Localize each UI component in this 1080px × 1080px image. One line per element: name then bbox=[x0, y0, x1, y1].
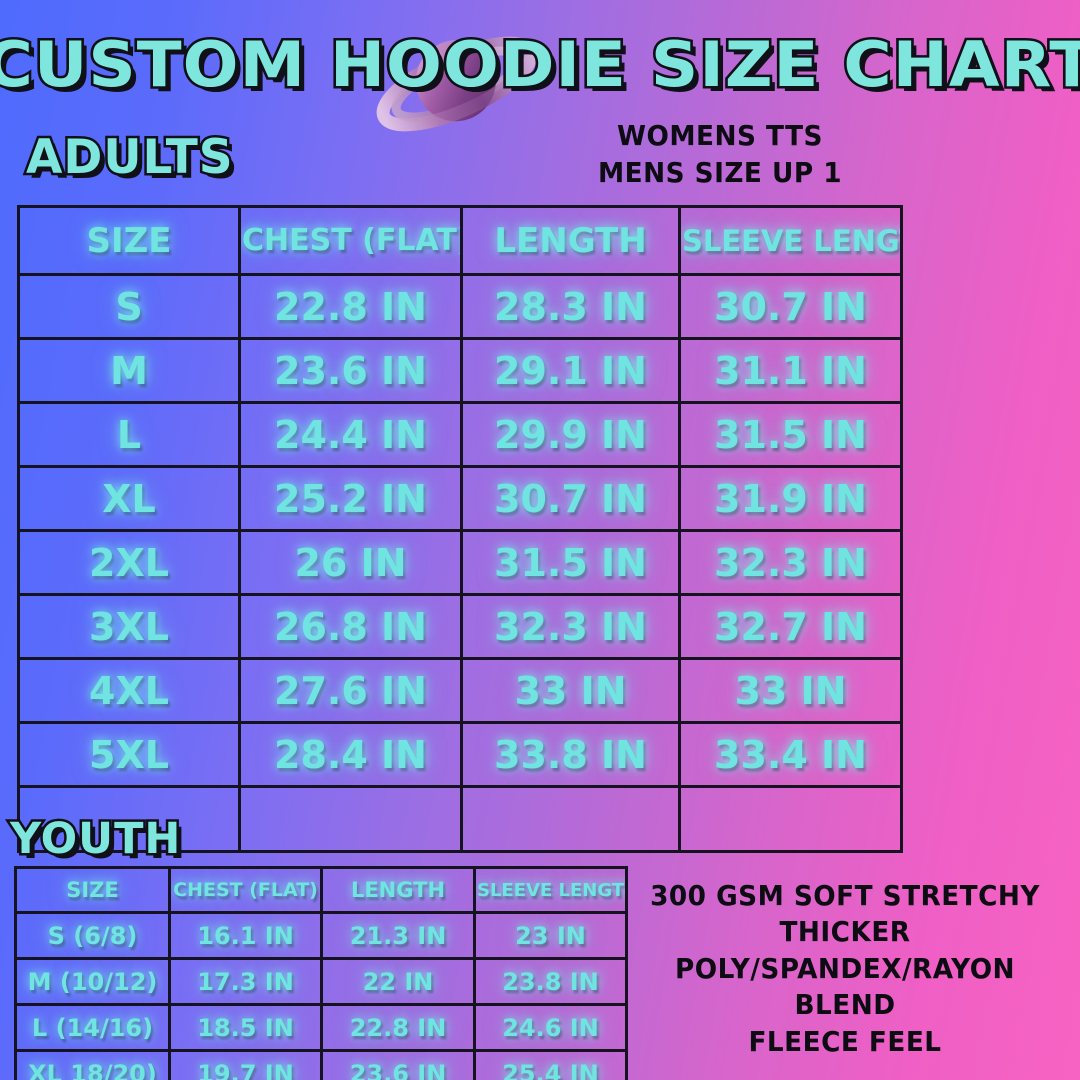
youth-cell-sleeve: 25.4 IN bbox=[475, 1051, 627, 1080]
adult-cell-size: 5XL bbox=[19, 723, 240, 787]
table-row: L (14/16) 18.5 IN 22.8 IN 24.6 IN bbox=[16, 1005, 627, 1051]
adult-cell-sleeve: 33 IN bbox=[680, 659, 902, 723]
adult-cell-length: 28.3 IN bbox=[462, 275, 680, 339]
adult-cell-sleeve: 31.9 IN bbox=[680, 467, 902, 531]
adult-cell-length: 31.5 IN bbox=[462, 531, 680, 595]
youth-header-chest: CHEST (FLAT) bbox=[170, 868, 322, 913]
adult-cell-sleeve bbox=[680, 787, 902, 852]
youth-section-heading: YOUTH bbox=[10, 818, 181, 861]
adult-cell-chest: 22.8 IN bbox=[240, 275, 462, 339]
youth-cell-chest: 17.3 IN bbox=[170, 959, 322, 1005]
adult-cell-sleeve: 31.1 IN bbox=[680, 339, 902, 403]
youth-cell-size: S (6/8) bbox=[16, 913, 170, 959]
youth-size-table: SIZE CHEST (FLAT) LENGTH SLEEVE LENGTH S… bbox=[14, 866, 628, 1080]
adult-cell-chest: 23.6 IN bbox=[240, 339, 462, 403]
adult-cell-size: L bbox=[19, 403, 240, 467]
adult-cell-chest bbox=[240, 787, 462, 852]
adult-cell-chest: 25.2 IN bbox=[240, 467, 462, 531]
adult-cell-chest: 28.4 IN bbox=[240, 723, 462, 787]
adult-cell-length bbox=[462, 787, 680, 852]
adult-cell-sleeve: 33.4 IN bbox=[680, 723, 902, 787]
adult-cell-length: 29.1 IN bbox=[462, 339, 680, 403]
youth-cell-chest: 16.1 IN bbox=[170, 913, 322, 959]
youth-cell-sleeve: 24.6 IN bbox=[475, 1005, 627, 1051]
adult-size-table: SIZE CHEST (FLAT) LENGTH SLEEVE LENGTH S… bbox=[17, 205, 903, 853]
adult-cell-length: 29.9 IN bbox=[462, 403, 680, 467]
table-row: 3XL 26.8 IN 32.3 IN 32.7 IN bbox=[19, 595, 902, 659]
table-row: L 24.4 IN 29.9 IN 31.5 IN bbox=[19, 403, 902, 467]
youth-cell-chest: 18.5 IN bbox=[170, 1005, 322, 1051]
table-row: XL 18/20) 19.7 IN 23.6 IN 25.4 IN bbox=[16, 1051, 627, 1080]
youth-cell-size: XL 18/20) bbox=[16, 1051, 170, 1080]
adult-cell-size: S bbox=[19, 275, 240, 339]
table-row: S 22.8 IN 28.3 IN 30.7 IN bbox=[19, 275, 902, 339]
adult-cell-length: 32.3 IN bbox=[462, 595, 680, 659]
youth-cell-length: 22.8 IN bbox=[322, 1005, 475, 1051]
adult-cell-sleeve: 32.3 IN bbox=[680, 531, 902, 595]
adult-header-size: SIZE bbox=[19, 207, 240, 275]
table-row: XL 25.2 IN 30.7 IN 31.9 IN bbox=[19, 467, 902, 531]
youth-cell-sleeve: 23.8 IN bbox=[475, 959, 627, 1005]
table-row: S (6/8) 16.1 IN 21.3 IN 23 IN bbox=[16, 913, 627, 959]
adult-cell-chest: 26.8 IN bbox=[240, 595, 462, 659]
adult-cell-length: 30.7 IN bbox=[462, 467, 680, 531]
adult-cell-size: 4XL bbox=[19, 659, 240, 723]
fabric-note: 300 GSM SOFT STRETCHY THICKER POLY/SPAND… bbox=[629, 878, 1061, 1060]
adult-cell-size: M bbox=[19, 339, 240, 403]
table-row: 2XL 26 IN 31.5 IN 32.3 IN bbox=[19, 531, 902, 595]
youth-header-sleeve: SLEEVE LENGTH bbox=[475, 868, 627, 913]
adult-cell-sleeve: 31.5 IN bbox=[680, 403, 902, 467]
youth-cell-sleeve: 23 IN bbox=[475, 913, 627, 959]
youth-cell-length: 22 IN bbox=[322, 959, 475, 1005]
adult-cell-sleeve: 32.7 IN bbox=[680, 595, 902, 659]
fabric-note-line-3: POLY/SPANDEX/RAYON BLEND bbox=[629, 951, 1061, 1024]
fit-note: WOMENS TTS MENS SIZE UP 1 bbox=[485, 118, 955, 192]
table-header-row: SIZE CHEST (FLAT) LENGTH SLEEVE LENGTH bbox=[19, 207, 902, 275]
adult-cell-size: XL bbox=[19, 467, 240, 531]
adult-header-sleeve: SLEEVE LENGTH bbox=[680, 207, 902, 275]
page-title: CUSTOM HOODIE SIZE CHART bbox=[0, 34, 1080, 96]
adult-cell-size: 2XL bbox=[19, 531, 240, 595]
adult-cell-chest: 27.6 IN bbox=[240, 659, 462, 723]
table-row: 4XL 27.6 IN 33 IN 33 IN bbox=[19, 659, 902, 723]
adult-cell-length: 33.8 IN bbox=[462, 723, 680, 787]
table-row: M 23.6 IN 29.1 IN 31.1 IN bbox=[19, 339, 902, 403]
table-header-row: SIZE CHEST (FLAT) LENGTH SLEEVE LENGTH bbox=[16, 868, 627, 913]
size-chart-canvas: CUSTOM HOODIE SIZE CHART ADULTS WOMENS T… bbox=[0, 0, 1080, 1080]
table-row: M (10/12) 17.3 IN 22 IN 23.8 IN bbox=[16, 959, 627, 1005]
fabric-note-line-1: 300 GSM SOFT STRETCHY bbox=[629, 878, 1061, 914]
fabric-note-line-4: FLEECE FEEL bbox=[629, 1024, 1061, 1060]
table-row: 5XL 28.4 IN 33.8 IN 33.4 IN bbox=[19, 723, 902, 787]
fit-note-line-2: MENS SIZE UP 1 bbox=[485, 155, 955, 192]
adult-cell-length: 33 IN bbox=[462, 659, 680, 723]
adult-cell-chest: 26 IN bbox=[240, 531, 462, 595]
youth-cell-size: M (10/12) bbox=[16, 959, 170, 1005]
adult-header-length: LENGTH bbox=[462, 207, 680, 275]
youth-cell-length: 21.3 IN bbox=[322, 913, 475, 959]
adult-cell-chest: 24.4 IN bbox=[240, 403, 462, 467]
youth-cell-chest: 19.7 IN bbox=[170, 1051, 322, 1080]
adult-cell-sleeve: 30.7 IN bbox=[680, 275, 902, 339]
adult-cell-size: 3XL bbox=[19, 595, 240, 659]
youth-cell-size: L (14/16) bbox=[16, 1005, 170, 1051]
fabric-note-line-2: THICKER bbox=[629, 914, 1061, 950]
youth-header-length: LENGTH bbox=[322, 868, 475, 913]
adults-section-heading: ADULTS bbox=[26, 134, 234, 181]
youth-header-size: SIZE bbox=[16, 868, 170, 913]
adult-header-chest: CHEST (FLAT) bbox=[240, 207, 462, 275]
youth-cell-length: 23.6 IN bbox=[322, 1051, 475, 1080]
fit-note-line-1: WOMENS TTS bbox=[485, 118, 955, 155]
